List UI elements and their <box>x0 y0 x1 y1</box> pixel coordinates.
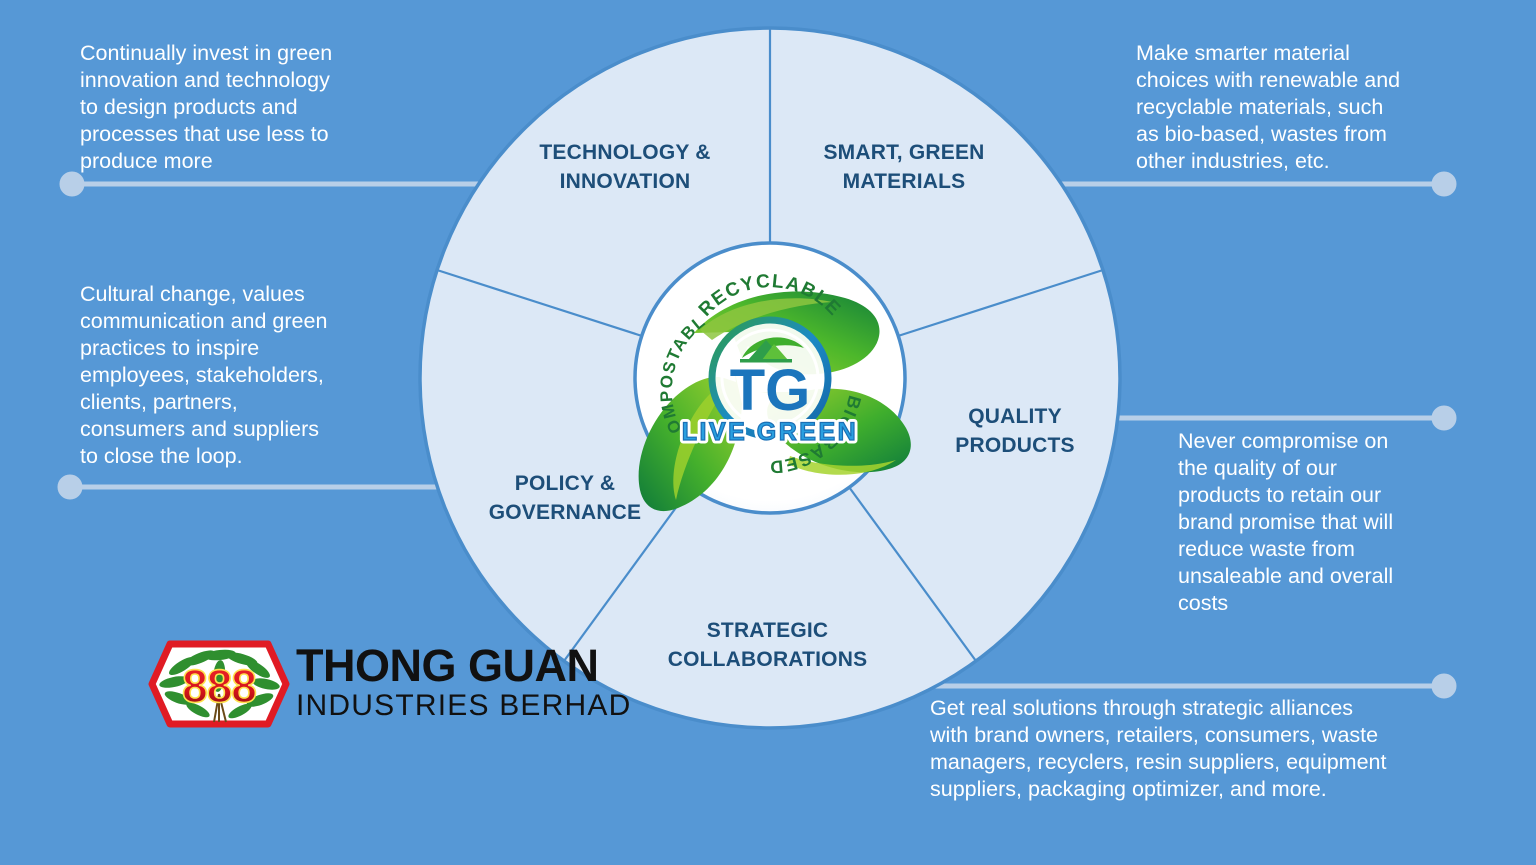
callout-policy-governance: Cultural change, values communication an… <box>80 281 380 470</box>
segment-label-technology-innovation[interactable]: TECHNOLOGY & INNOVATION <box>520 138 730 196</box>
callout-quality-products: Never compromise on the quality of our p… <box>1178 428 1458 617</box>
tg-monogram: TG <box>730 358 811 423</box>
badge-digits: 888 <box>182 660 256 712</box>
live-green-tagline: LIVE GREEN <box>682 418 858 446</box>
segment-label-strategic-collaborations[interactable]: STRATEGIC COLLABORATIONS <box>645 616 890 674</box>
888-badge-logo: 888 <box>148 636 290 732</box>
segment-label-quality-products[interactable]: QUALITY PRODUCTS <box>940 402 1090 460</box>
callout-strategic-collaborations: Get real solutions through strategic all… <box>930 695 1440 803</box>
infographic-canvas: TG RECYCLABLE COMPOSTABLE BIO-BASED LIVE… <box>0 0 1536 865</box>
callout-technology-innovation: Continually invest in green innovation a… <box>80 40 380 175</box>
brand-lockup: THONG GUAN INDUSTRIES BERHAD <box>296 643 631 723</box>
segment-label-policy-governance[interactable]: POLICY & GOVERNANCE <box>480 469 650 527</box>
callout-smart-green-materials: Make smarter material choices with renew… <box>1136 40 1446 175</box>
segment-label-smart-green-materials[interactable]: SMART, GREEN MATERIALS <box>806 138 1002 196</box>
brand-name: THONG GUAN <box>296 643 631 689</box>
brand-subtitle: INDUSTRIES BERHAD <box>296 689 631 723</box>
